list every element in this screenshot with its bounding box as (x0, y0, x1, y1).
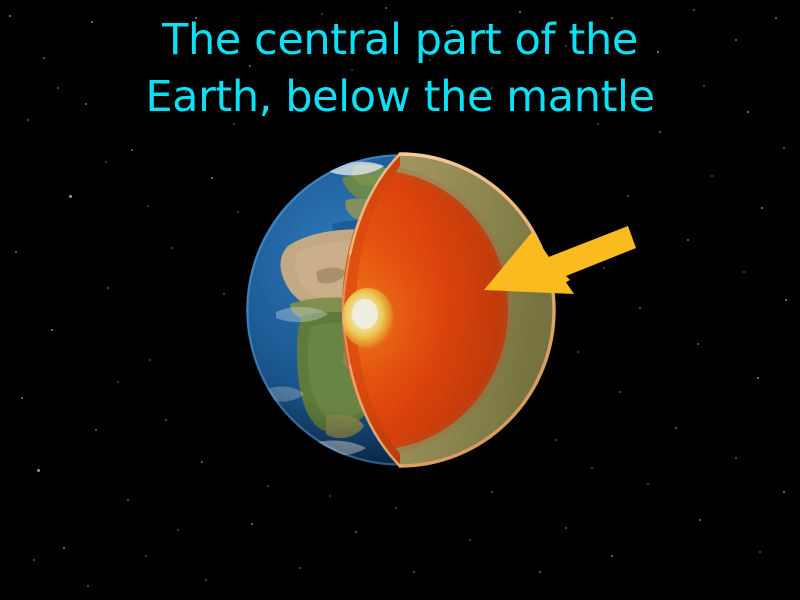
star (149, 359, 151, 361)
pointer-arrow (478, 218, 636, 316)
star (147, 205, 149, 207)
star (251, 523, 254, 526)
star (539, 571, 541, 573)
star (577, 351, 579, 353)
star (211, 177, 214, 180)
star (145, 555, 147, 557)
star (37, 469, 40, 472)
star (675, 427, 677, 429)
star (659, 131, 661, 133)
star (687, 239, 689, 241)
star (237, 211, 239, 213)
star (565, 527, 567, 529)
star (105, 161, 107, 163)
star (783, 491, 786, 494)
star (131, 149, 134, 152)
star (33, 559, 35, 561)
star (21, 397, 24, 400)
star (783, 147, 785, 149)
star (69, 195, 72, 198)
star (165, 419, 167, 421)
star (329, 495, 331, 497)
star (51, 329, 54, 332)
star (87, 585, 89, 587)
star (223, 293, 225, 295)
star (15, 251, 17, 253)
star (385, 7, 387, 9)
star (697, 343, 699, 345)
star (759, 551, 761, 553)
star (413, 571, 415, 573)
star (117, 381, 119, 383)
star (711, 175, 713, 177)
star (127, 499, 129, 501)
star (177, 529, 179, 531)
star (735, 457, 737, 459)
star (491, 491, 493, 493)
star (757, 377, 760, 380)
star (761, 207, 764, 210)
star (205, 579, 207, 581)
star (469, 539, 471, 541)
star (95, 429, 97, 431)
star (627, 195, 629, 197)
star (63, 547, 66, 550)
star (171, 247, 173, 249)
star (611, 555, 614, 558)
star (699, 519, 701, 521)
star (647, 483, 649, 485)
star (555, 439, 557, 441)
star (639, 307, 641, 309)
page-title: The central part of the Earth, below the… (0, 12, 800, 126)
star (267, 485, 269, 487)
star (355, 531, 357, 533)
star (299, 567, 301, 569)
star (619, 391, 621, 393)
star (743, 271, 745, 273)
star (395, 507, 397, 509)
star (591, 467, 593, 469)
star (785, 299, 788, 302)
star (693, 9, 695, 11)
star (107, 287, 109, 289)
star (201, 461, 203, 463)
slide-canvas: The central part of the Earth, below the… (0, 0, 800, 600)
